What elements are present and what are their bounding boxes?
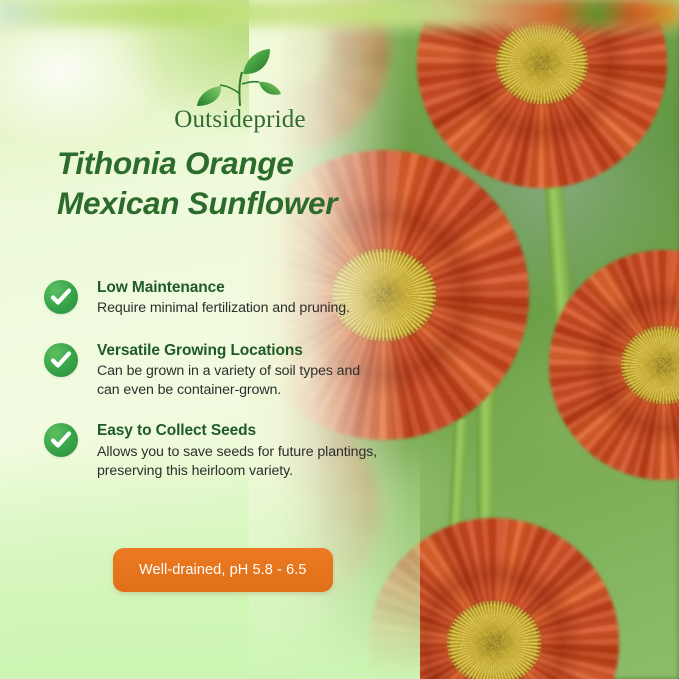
leaf-sprout-icon xyxy=(190,48,290,110)
flower-center xyxy=(624,329,679,401)
feature-description: Allows you to save seeds for future plan… xyxy=(97,443,377,481)
list-item: Versatile Growing Locations Can be grown… xyxy=(44,341,434,401)
feature-text: Versatile Growing Locations Can be grown… xyxy=(97,341,360,401)
page-title: Tithonia Orange Mexican Sunflower xyxy=(57,143,427,224)
list-item: Easy to Collect Seeds Allows you to save… xyxy=(44,421,434,481)
feature-description: Require minimal fertilization and prunin… xyxy=(97,299,350,318)
soil-requirement-badge: Well-drained, pH 5.8 - 6.5 xyxy=(113,548,333,592)
brand-logo[interactable]: Outsidepride xyxy=(150,48,330,134)
flower-center xyxy=(450,604,538,679)
feature-heading: Low Maintenance xyxy=(97,278,350,297)
feature-text: Easy to Collect Seeds Allows you to save… xyxy=(97,421,377,481)
title-line-2: Mexican Sunflower xyxy=(57,183,427,223)
content-column: Outsidepride Tithonia Orange Mexican Sun… xyxy=(0,0,430,679)
feature-description-line-1: Can be grown in a variety of soil types … xyxy=(97,362,360,381)
feature-text: Low Maintenance Require minimal fertiliz… xyxy=(97,278,350,319)
check-circle-icon xyxy=(44,343,78,377)
list-item: Low Maintenance Require minimal fertiliz… xyxy=(44,278,434,319)
title-line-1: Tithonia Orange xyxy=(57,143,427,183)
check-circle-icon xyxy=(44,423,78,457)
feature-description-line-1: Require minimal fertilization and prunin… xyxy=(97,300,350,316)
feature-heading: Easy to Collect Seeds xyxy=(97,421,377,440)
check-circle-icon xyxy=(44,280,78,314)
flower-bloom xyxy=(549,250,679,480)
feature-description-line-2: preserving this heirloom variety. xyxy=(97,462,377,481)
feature-list: Low Maintenance Require minimal fertiliz… xyxy=(44,278,434,503)
product-feature-card: Outsidepride Tithonia Orange Mexican Sun… xyxy=(0,0,679,679)
feature-heading: Versatile Growing Locations xyxy=(97,341,360,360)
feature-description: Can be grown in a variety of soil types … xyxy=(97,362,360,400)
feature-description-line-1: Allows you to save seeds for future plan… xyxy=(97,443,377,462)
brand-wordmark: Outsidepride xyxy=(150,106,330,134)
feature-description-line-2: can even be container-grown. xyxy=(97,381,360,400)
